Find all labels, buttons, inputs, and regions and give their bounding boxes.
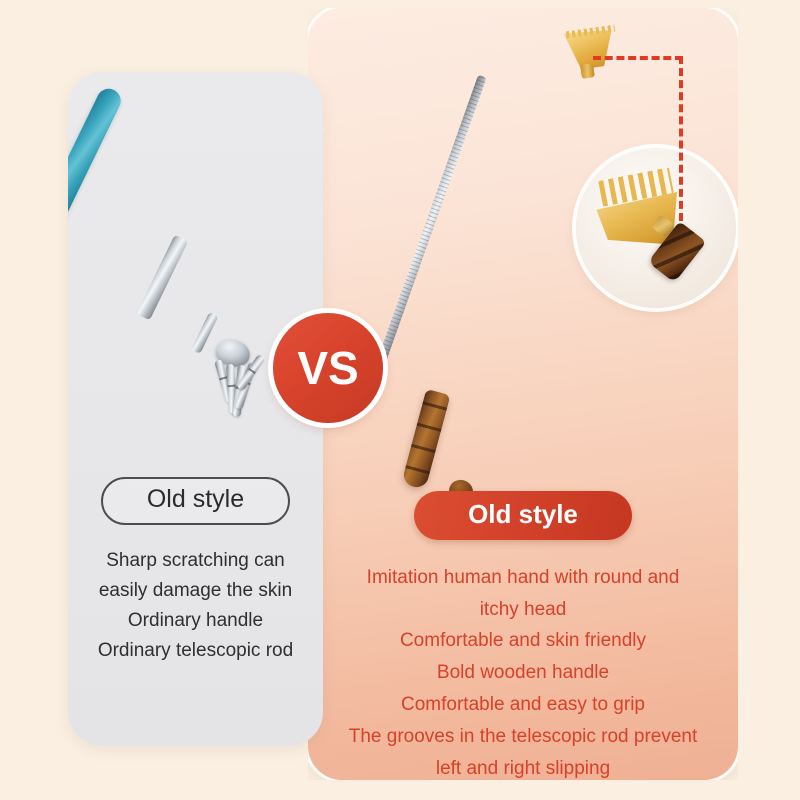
amber-comb-neck [580, 63, 595, 79]
feature-line: Sharp scratching can [76, 546, 315, 576]
new-product-caption: Old style Imitation human hand with roun… [308, 491, 738, 780]
metal-claw-finger [234, 362, 256, 410]
amber-comb-head [564, 27, 617, 71]
feature-line: itchy head [322, 594, 724, 626]
feature-line: Ordinary telescopic rod [76, 636, 315, 666]
feature-line: Ordinary handle [76, 606, 315, 636]
metal-claw-finger [236, 354, 265, 392]
feature-line: The grooves in the telescopic rod preven… [322, 721, 724, 753]
feature-line: left and right slipping [322, 753, 724, 780]
metal-claw-finger [214, 359, 234, 404]
old-product-panel: Old style Sharp scratching can easily da… [68, 72, 323, 746]
new-product-feature-list: Imitation human hand with round and itch… [322, 562, 724, 780]
old-product-caption: Old style Sharp scratching can easily da… [68, 477, 323, 666]
feature-line: Bold wooden handle [322, 657, 724, 689]
feature-line: easily damage the skin [76, 576, 315, 606]
new-product-badge: Old style [414, 491, 632, 540]
feature-line: Imitation human hand with round and [322, 562, 724, 594]
feature-line: Comfortable and easy to grip [322, 689, 724, 721]
teal-rubber-handle [68, 85, 125, 239]
metal-claw-palm [213, 336, 252, 369]
chrome-telescopic-rod-inner [191, 312, 218, 354]
old-product-feature-list: Sharp scratching can easily damage the s… [76, 546, 315, 666]
grooved-telescopic-rod [368, 74, 487, 388]
metal-claw-finger [226, 364, 237, 414]
bamboo-wooden-handle [401, 389, 451, 490]
comb-head-closeup-inset [576, 148, 736, 308]
old-product-badge: Old style [101, 477, 290, 525]
chrome-telescopic-rod [136, 235, 188, 321]
metal-claw-finger [233, 365, 246, 418]
feature-line: Comfortable and skin friendly [322, 625, 724, 657]
vs-label: VS [297, 345, 358, 391]
vs-badge: VS [273, 313, 383, 423]
comparison-infographic: Old style Imitation human hand with roun… [0, 0, 800, 800]
amber-comb-teeth [566, 25, 615, 39]
